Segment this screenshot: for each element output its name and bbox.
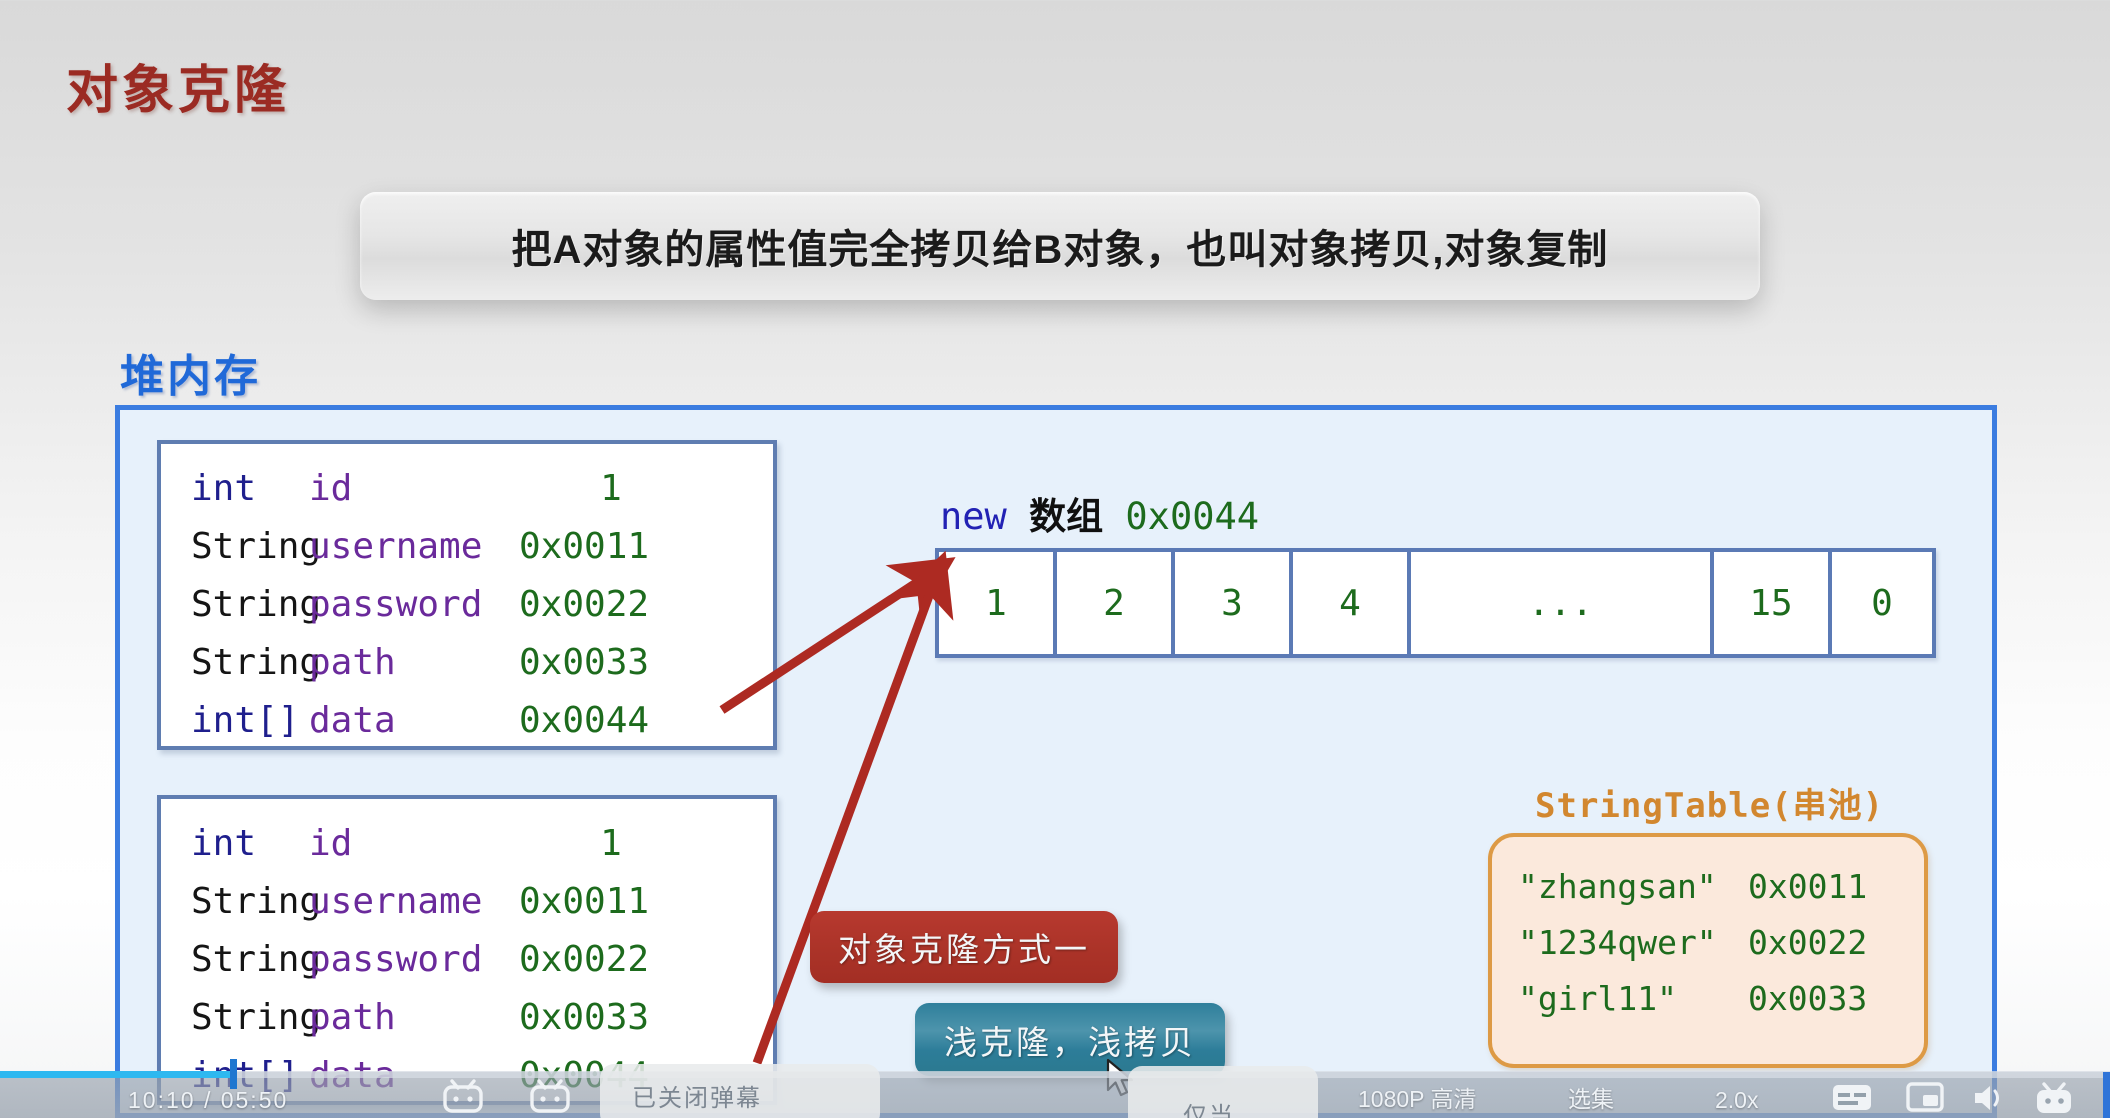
array-cell: 1 bbox=[939, 552, 1057, 654]
array-cell: 3 bbox=[1175, 552, 1293, 654]
video-player-controls[interactable]: 10:10 / 05:50 已关闭弹幕 仅当 1080P 高清 选集 2.0x bbox=[0, 1072, 2110, 1118]
field-type: int[] bbox=[191, 692, 309, 750]
field-value: 0x0044 bbox=[519, 692, 773, 750]
danmaku-status-text: 已关闭弹幕 bbox=[632, 1078, 762, 1113]
array-cell: 4 bbox=[1293, 552, 1411, 654]
volume-tooltip: 仅当 bbox=[1128, 1066, 1318, 1118]
progress-fill bbox=[0, 1071, 235, 1078]
object-field-row: String username 0x0011 bbox=[161, 873, 773, 931]
speed-button[interactable]: 2.0x bbox=[1715, 1087, 1758, 1114]
array-label-address: 0x0044 bbox=[1125, 495, 1259, 538]
array-label-zh: 数组 bbox=[1029, 495, 1103, 538]
volume-icon[interactable] bbox=[1968, 1078, 2008, 1116]
string-table-row: "1234qwer" 0x0022 bbox=[1518, 915, 1924, 971]
field-type: String bbox=[191, 989, 309, 1047]
progress-track[interactable] bbox=[0, 1071, 2110, 1078]
progress-handle[interactable] bbox=[230, 1059, 237, 1089]
string-address: 0x0011 bbox=[1748, 859, 1924, 915]
field-name: id bbox=[309, 815, 519, 873]
array-table: 1 2 3 4 ... 15 0 bbox=[935, 548, 1936, 658]
bilibili-danmaku-icon[interactable] bbox=[527, 1076, 573, 1116]
bilibili-tv-icon[interactable] bbox=[440, 1076, 486, 1116]
episodes-button[interactable]: 选集 bbox=[1568, 1080, 1614, 1114]
field-value: 0x0011 bbox=[519, 518, 773, 576]
field-name: path bbox=[309, 634, 519, 692]
array-cell: 0 bbox=[1832, 552, 1932, 654]
field-type: int bbox=[191, 460, 309, 518]
field-value: 1 bbox=[519, 815, 773, 873]
field-value: 0x0022 bbox=[519, 576, 773, 634]
array-cell: 2 bbox=[1057, 552, 1175, 654]
string-literal: "zhangsan" bbox=[1518, 859, 1748, 915]
field-value: 0x0022 bbox=[519, 931, 773, 989]
field-name: username bbox=[309, 873, 519, 931]
object-field-row: String password 0x0022 bbox=[161, 931, 773, 989]
definition-banner-text: 把A对象的属性值完全拷贝给B对象，也叫对象拷贝,对象复制 bbox=[512, 217, 1609, 275]
array-label-keyword: new bbox=[940, 495, 1007, 538]
volume-tooltip-text: 仅当 bbox=[1183, 1096, 1235, 1118]
fullscreen-icon[interactable] bbox=[2032, 1078, 2076, 1116]
array-cell-ellipsis: ... bbox=[1411, 552, 1714, 654]
object-box-original: int id 1 String username 0x0011 String p… bbox=[157, 440, 777, 750]
field-value: 0x0033 bbox=[519, 634, 773, 692]
callout-clone-method-one[interactable]: 对象克隆方式一 bbox=[810, 911, 1118, 983]
object-field-row: int id 1 bbox=[161, 815, 773, 873]
pip-icon[interactable] bbox=[1905, 1078, 1945, 1116]
array-label: new 数组 0x0044 bbox=[940, 486, 1259, 540]
object-field-row: String password 0x0022 bbox=[161, 576, 773, 634]
object-field-row: String path 0x0033 bbox=[161, 989, 773, 1047]
callout-teal-label: 浅克隆，浅拷贝 bbox=[944, 1016, 1196, 1064]
object-field-list: int id 1 String username 0x0011 String p… bbox=[161, 444, 773, 750]
string-literal: "girl11" bbox=[1518, 971, 1748, 1027]
field-name: username bbox=[309, 518, 519, 576]
object-field-row: int id 1 bbox=[161, 460, 773, 518]
field-value: 0x0011 bbox=[519, 873, 773, 931]
string-table-row: "zhangsan" 0x0011 bbox=[1518, 859, 1924, 915]
slide-canvas: 对象克隆 把A对象的属性值完全拷贝给B对象，也叫对象拷贝,对象复制 堆内存 in… bbox=[0, 0, 2110, 1118]
object-field-list: int id 1 String username 0x0011 String p… bbox=[161, 799, 773, 1105]
page-title: 对象克隆 bbox=[66, 48, 290, 123]
field-type: int bbox=[191, 815, 309, 873]
quality-button[interactable]: 1080P 高清 bbox=[1358, 1080, 1476, 1114]
field-name: password bbox=[309, 576, 519, 634]
string-table-title: StringTable(串池) bbox=[1535, 778, 1884, 827]
callout-red-label: 对象克隆方式一 bbox=[838, 923, 1090, 971]
field-name: data bbox=[309, 692, 519, 750]
field-name: password bbox=[309, 931, 519, 989]
object-field-row: int[] data 0x0044 bbox=[161, 692, 773, 750]
playback-time: 10:10 / 05:50 bbox=[128, 1087, 288, 1114]
subtitle-icon[interactable] bbox=[1830, 1078, 1874, 1116]
heap-memory-label: 堆内存 bbox=[120, 340, 261, 404]
string-literal: "1234qwer" bbox=[1518, 915, 1748, 971]
field-name: path bbox=[309, 989, 519, 1047]
definition-banner: 把A对象的属性值完全拷贝给B对象，也叫对象拷贝,对象复制 bbox=[360, 192, 1760, 300]
scrollbar-edge[interactable] bbox=[2103, 1072, 2110, 1118]
string-address: 0x0033 bbox=[1748, 971, 1924, 1027]
field-name: id bbox=[309, 460, 519, 518]
field-type: String bbox=[191, 873, 309, 931]
string-table-row: "girl11" 0x0033 bbox=[1518, 971, 1924, 1027]
field-type: String bbox=[191, 931, 309, 989]
field-type: String bbox=[191, 518, 309, 576]
array-cell: 15 bbox=[1714, 552, 1832, 654]
object-field-row: String username 0x0011 bbox=[161, 518, 773, 576]
string-table-box: "zhangsan" 0x0011 "1234qwer" 0x0022 "gir… bbox=[1488, 833, 1928, 1068]
object-field-row: String path 0x0033 bbox=[161, 634, 773, 692]
field-type: String bbox=[191, 634, 309, 692]
string-address: 0x0022 bbox=[1748, 915, 1924, 971]
field-value: 0x0033 bbox=[519, 989, 773, 1047]
danmaku-status-tooltip: 已关闭弹幕 bbox=[600, 1064, 880, 1118]
object-box-clone: int id 1 String username 0x0011 String p… bbox=[157, 795, 777, 1105]
field-type: String bbox=[191, 576, 309, 634]
field-value: 1 bbox=[519, 460, 773, 518]
